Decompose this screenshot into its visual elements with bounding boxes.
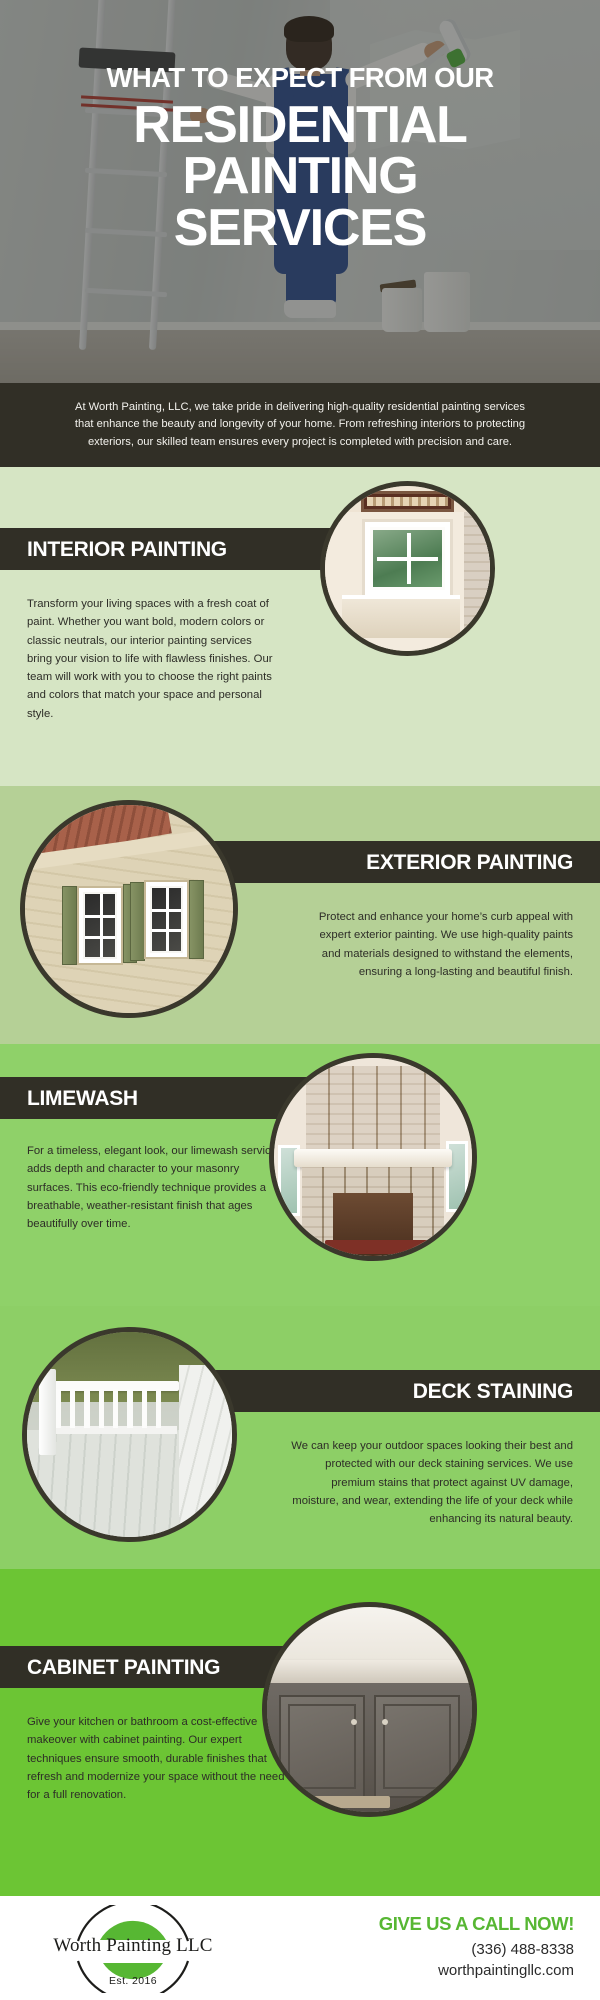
section-cabinet-painting: CABINET PAINTING Give your kitchen or ba… (0, 1569, 600, 1891)
section-title-cabinet: CABINET PAINTING (27, 1657, 220, 1678)
hero-title-block: WHAT TO EXPECT FROM OUR RESIDENTIAL PAIN… (0, 0, 600, 254)
section-limewash: LIMEWASH For a timeless, elegant look, o… (0, 1044, 600, 1306)
section-image-limewash (269, 1053, 477, 1261)
section-body-deck: We can keep your outdoor spaces looking … (283, 1437, 573, 1528)
section-title-limewash: LIMEWASH (27, 1088, 138, 1109)
hero-headline-line-2: PAINTING (28, 152, 572, 202)
hero-headline-line-1: RESIDENTIAL (133, 96, 466, 154)
intro-band: At Worth Painting, LLC, we take pride in… (0, 383, 600, 467)
logo-established: Est. 2016 (48, 1975, 218, 1987)
section-body-interior: Transform your living spaces with a fres… (27, 595, 275, 723)
contact-block: GIVE US A CALL NOW! (336) 488-8338 worth… (379, 1914, 574, 1980)
logo-company-name: Worth Painting LLC (48, 1935, 218, 1957)
call-to-action-text: GIVE US A CALL NOW! (379, 1914, 574, 1934)
section-exterior-painting: EXTERIOR PAINTING Protect and enhance yo… (0, 786, 600, 1044)
company-logo: Worth Painting LLC Est. 2016 (48, 1905, 218, 1993)
section-body-cabinet: Give your kitchen or bathroom a cost-eff… (27, 1713, 285, 1804)
hero-headline: RESIDENTIAL PAINTING SERVICES (28, 101, 572, 255)
section-title-deck: DECK STAINING (413, 1381, 573, 1402)
section-heading-bar-exterior: EXTERIOR PAINTING (208, 841, 600, 883)
intro-paragraph: At Worth Painting, LLC, we take pride in… (65, 399, 535, 451)
section-image-interior (320, 481, 495, 656)
hero-banner: WHAT TO EXPECT FROM OUR RESIDENTIAL PAIN… (0, 0, 600, 383)
footer-accent-rule (0, 1891, 600, 1896)
section-title-interior: INTERIOR PAINTING (27, 539, 227, 560)
section-image-deck (22, 1327, 237, 1542)
section-heading-bar-deck: DECK STAINING (208, 1370, 600, 1412)
hero-headline-line-3: SERVICES (28, 204, 572, 254)
section-interior-painting: INTERIOR PAINTING Transform your living … (0, 467, 600, 786)
section-body-limewash: For a timeless, elegant look, our limewa… (27, 1142, 277, 1233)
footer: Worth Painting LLC Est. 2016 GIVE US A C… (0, 1891, 600, 2000)
section-image-cabinet (262, 1602, 477, 1817)
section-deck-staining: DECK STAINING We can keep your outdoor s… (0, 1306, 600, 1569)
section-image-exterior (20, 800, 238, 1018)
phone-number[interactable]: (336) 488-8338 (379, 1941, 574, 1959)
section-title-exterior: EXTERIOR PAINTING (366, 852, 573, 873)
website-url[interactable]: worthpaintingllc.com (379, 1962, 574, 1980)
section-body-exterior: Protect and enhance your home’s curb app… (311, 908, 573, 981)
hero-kicker: WHAT TO EXPECT FROM OUR (28, 64, 572, 92)
